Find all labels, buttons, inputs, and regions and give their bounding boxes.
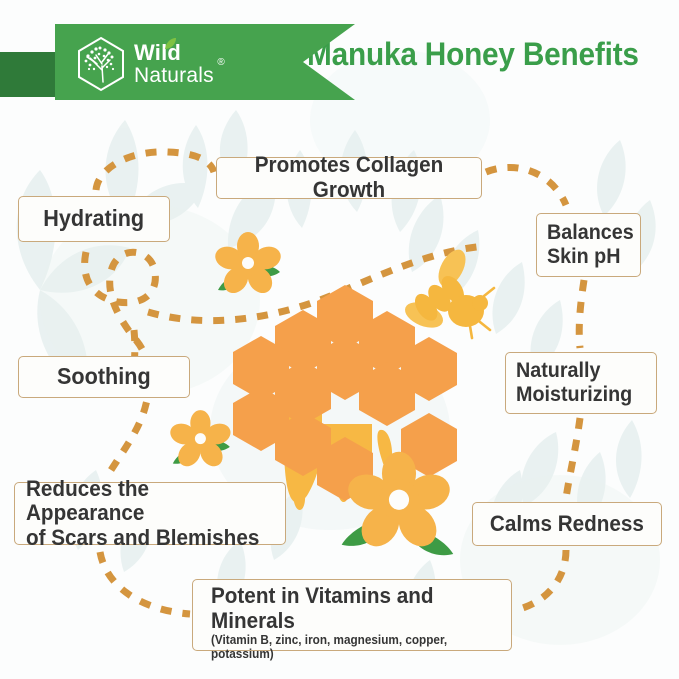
benefit-label-text-line2: Skin pH <box>547 245 620 269</box>
benefit-label-collagen[interactable]: Promotes Collagen Growth <box>216 157 482 199</box>
benefit-label-text-line2: of Scars and Blemishes <box>26 526 259 551</box>
header: Wild Naturals ® Manuka Honey Benefits <box>0 0 679 120</box>
brand-wordmark: Wild Naturals ® <box>134 42 214 86</box>
benefit-label-text-line1: Balances <box>547 221 634 245</box>
leaf-icon <box>164 38 177 50</box>
benefit-label-calms-redness[interactable]: Calms Redness <box>472 502 662 546</box>
benefit-label-hydrating[interactable]: Hydrating <box>18 196 170 242</box>
brand-logo: Wild Naturals ® <box>75 36 214 92</box>
benefit-label-text-line1: Reduces the Appearance <box>26 477 260 526</box>
benefit-label-text: Soothing <box>57 364 151 390</box>
benefit-label-soothing[interactable]: Soothing <box>18 356 190 398</box>
benefit-label-vitamins-minerals[interactable]: Potent in Vitamins and Minerals (Vitamin… <box>192 579 512 651</box>
infographic-canvas: Wild Naturals ® Manuka Honey Benefits Hy… <box>0 0 679 679</box>
benefit-label-text-line1: Naturally <box>516 359 600 383</box>
benefit-label-text: Hydrating <box>44 206 145 232</box>
benefit-label-subtext: (Vitamin B, zinc, iron, magnesium, coppe… <box>211 634 493 662</box>
flower-icon <box>212 232 283 298</box>
benefit-label-reduces-scars[interactable]: Reduces the Appearance of Scars and Blem… <box>14 482 286 545</box>
flower-icon <box>168 410 234 471</box>
registered-mark: ® <box>217 58 224 68</box>
page-title: Manuka Honey Benefits <box>307 36 639 73</box>
benefit-label-text-line2: Moisturizing <box>516 383 632 407</box>
benefit-label-naturally-moisturizing[interactable]: Naturally Moisturizing <box>505 352 657 414</box>
benefit-label-text: Promotes Collagen Growth <box>234 153 463 202</box>
hexagon-tree-icon <box>75 36 127 92</box>
brand-name-line2: Naturals <box>134 65 214 86</box>
benefit-label-text: Potent in Vitamins and Minerals <box>211 584 493 633</box>
bee-icon <box>401 245 494 338</box>
benefit-label-balances-skin-ph[interactable]: Balances Skin pH <box>536 213 641 277</box>
benefit-label-text: Calms Redness <box>490 512 644 537</box>
